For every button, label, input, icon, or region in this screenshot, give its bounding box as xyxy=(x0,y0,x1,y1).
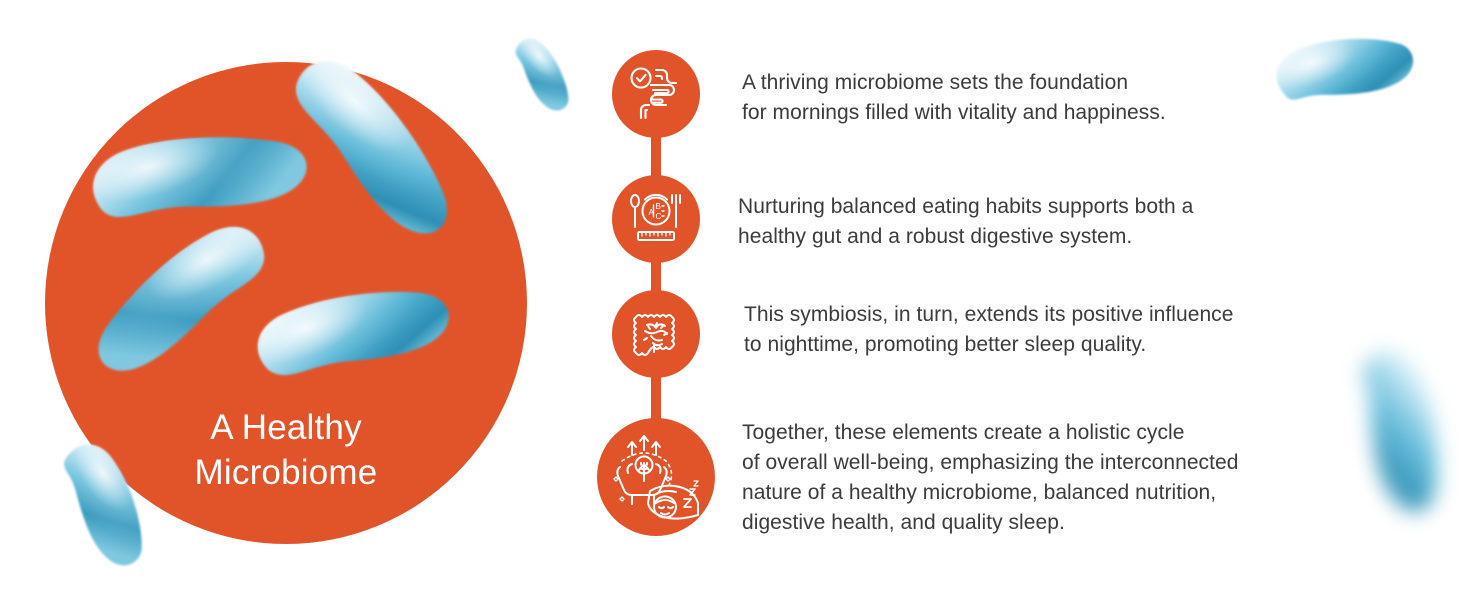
svg-text:C: C xyxy=(656,212,662,221)
step-icon-intestine-check[interactable] xyxy=(612,50,700,138)
svg-text:B: B xyxy=(656,202,661,211)
wellbeing-sleep-icon xyxy=(610,433,702,521)
large-intestine-icon xyxy=(627,305,685,363)
step-icon-large-intestine[interactable] xyxy=(612,290,700,378)
bacterium-top-near-circle xyxy=(498,25,589,120)
step-text-1: A thriving microbiome sets the foundatio… xyxy=(742,68,1342,128)
step-icon-wellbeing-sleep[interactable] xyxy=(597,418,715,536)
balanced-plate-nutrition-icon: A B C xyxy=(626,190,686,248)
intestine-check-icon xyxy=(627,65,685,123)
page-title: A Healthy Microbiome xyxy=(45,405,527,495)
infographic-canvas: A Healthy Microbiome xyxy=(0,0,1464,600)
step-text-3: This symbiosis, in turn, extends its pos… xyxy=(744,300,1354,360)
step-text-4: Together, these elements create a holist… xyxy=(742,418,1362,538)
step-text-2: Nurturing balanced eating habits support… xyxy=(738,192,1338,252)
step-icon-balanced-plate[interactable]: A B C xyxy=(612,175,700,263)
